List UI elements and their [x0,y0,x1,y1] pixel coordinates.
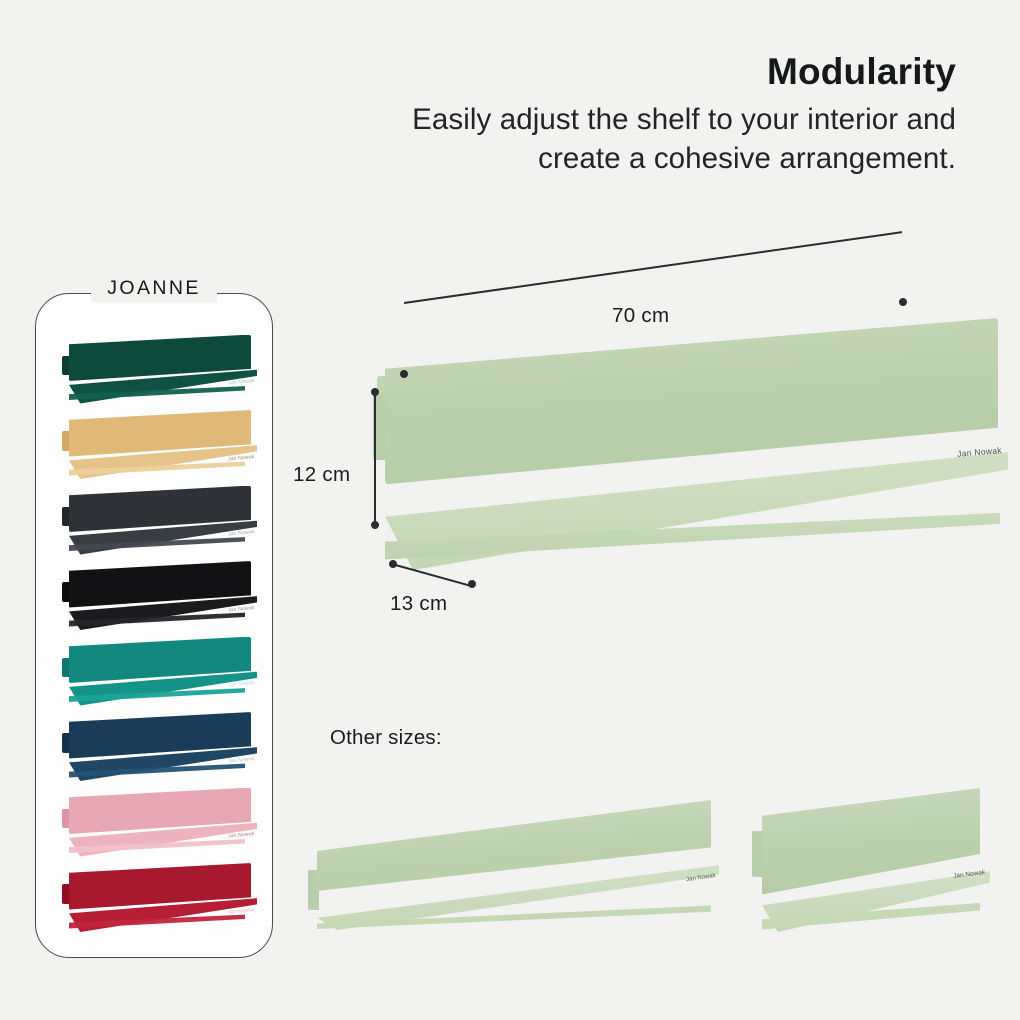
heading-block: Modularity Easily adjust the shelf to yo… [250,52,956,178]
swatch-shelf-navy: Jan Nowak [57,711,257,786]
dimension-dot-height-top [371,388,379,396]
page-title: Modularity [250,52,956,92]
dimension-dot-depth-end [468,580,476,588]
swatch-list: Jan NowakJan NowakJan NowakJan NowakJan … [35,333,273,948]
swatch-shelf-crimson: Jan Nowak [57,862,257,937]
swatch-shelf-dark-green: Jan Nowak [57,333,257,408]
color-swatch-panel: JOANNE Jan NowakJan NowakJan NowakJan No… [35,293,273,958]
swatch-shelf-teal: Jan Nowak [57,635,257,710]
dimension-label-depth: 13 cm [390,592,447,616]
hero-shelf-back-panel [385,318,998,484]
dimension-line-height [374,392,376,525]
dimension-dot-width-end [899,298,907,306]
dimension-label-width: 70 cm [612,304,669,328]
swatch-pink[interactable]: Jan Nowak [57,786,257,861]
subtitle-line-1: Easily adjust the shelf to your interior… [250,100,956,139]
dimension-dot-depth-start [389,560,397,568]
collection-name-label: JOANNE [98,277,210,300]
swatch-teal[interactable]: Jan Nowak [57,635,257,710]
alt-shelf-medium: Jan Nowak [315,800,719,930]
swatch-dark-green[interactable]: Jan Nowak [57,333,257,408]
swatch-shelf-pink: Jan Nowak [57,786,257,861]
swatch-black[interactable]: Jan Nowak [57,560,257,635]
swatch-graphite[interactable]: Jan Nowak [57,484,257,559]
dimension-line-width [404,231,902,303]
swatch-navy[interactable]: Jan Nowak [57,711,257,786]
swatch-shelf-gold: Jan Nowak [57,409,257,484]
dimension-dot-height-bottom [371,521,379,529]
alt-small-mount-tab [752,831,763,877]
swatch-gold[interactable]: Jan Nowak [57,409,257,484]
dimension-label-height: 12 cm [293,463,350,487]
swatch-shelf-black: Jan Nowak [57,560,257,635]
other-sizes-label: Other sizes: [330,726,442,750]
dimension-dot-width-start [400,370,408,378]
swatch-shelf-graphite: Jan Nowak [57,484,257,559]
infographic-canvas: Modularity Easily adjust the shelf to yo… [0,0,1020,1020]
swatch-crimson[interactable]: Jan Nowak [57,862,257,937]
subtitle-line-2: create a cohesive arrangement. [250,139,956,178]
hero-shelf-green: Jan Nowak [383,318,1008,570]
alt-shelf-small: Jan Nowak [758,788,990,932]
